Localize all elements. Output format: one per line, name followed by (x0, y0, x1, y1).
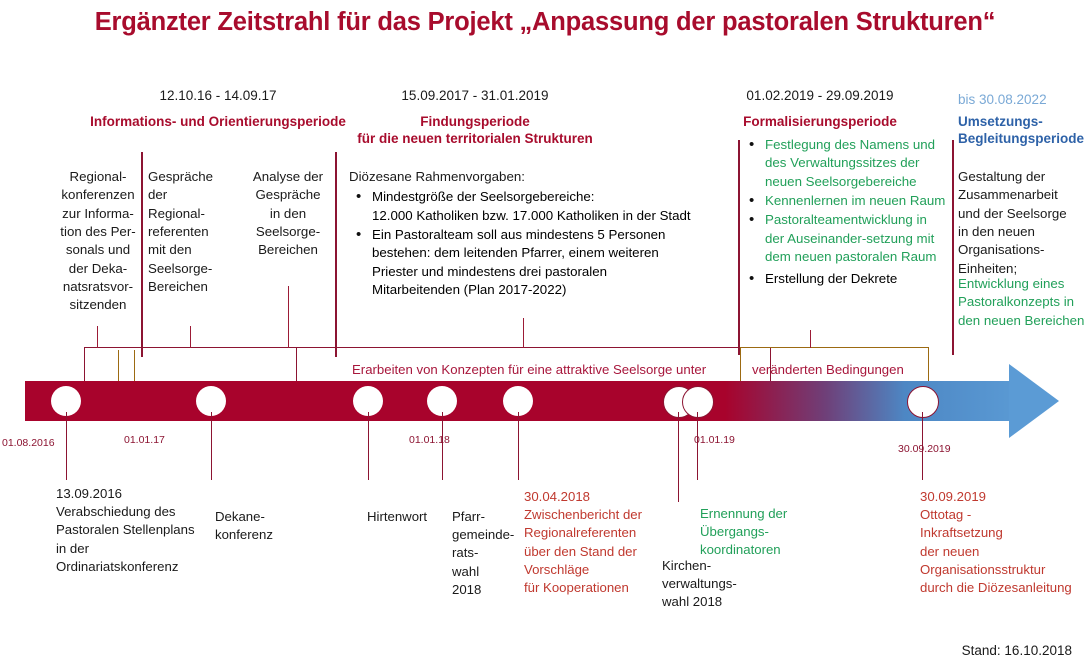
event-block-8: 30.09.2019 Ottotag - Inkraftsetzung der … (920, 488, 1090, 597)
period-name-2-line2: für die neuen territorialen Strukturen (330, 130, 620, 148)
event-line-4 (442, 412, 443, 480)
period-divider-1 (141, 152, 143, 357)
event-text: Ottotag - Inkraftsetzung der neuen Organ… (920, 506, 1090, 597)
tick-date-3: 01.01.18 (409, 434, 450, 446)
column-formalisierung: Festlegung des Namens und des Verwaltung… (742, 136, 947, 290)
column-gespraeche-regionalreferenten: Gespräche der Regional- referenten mit d… (148, 168, 238, 296)
bracket-left-leg (84, 347, 85, 381)
period-divider-2 (335, 152, 337, 357)
event-line-2 (211, 412, 212, 480)
event-block-5: 30.04.2018 Zwischenbericht der Regionalr… (524, 488, 684, 597)
formalisierung-bullets: Festlegung des Namens und des Verwaltung… (742, 136, 947, 289)
column-umsetzung-black: Gestaltung der Zusammenarbeit und der Se… (958, 168, 1088, 278)
column-umsetzung-green: Entwicklung eines Pastoralkonzepts in de… (958, 275, 1090, 330)
period-range-1: 12.10.16 - 14.09.17 (73, 88, 363, 105)
bracket-mid-leg-1 (296, 347, 297, 381)
bracket-tan-right-leg (928, 347, 929, 381)
column-analyse-gespraeche: Analyse der Gespräche in den Seelsorge- … (243, 168, 333, 260)
drop-line-4 (523, 318, 524, 348)
stand-date: Stand: 16.10.2018 (962, 643, 1072, 658)
event-block-6: Ernennung der Übergangs- koordinatoren (700, 505, 840, 560)
event-date: 30.09.2019 (920, 488, 1090, 506)
event-text: Pfarr- gemeinde- rats- wahl 2018 (452, 508, 524, 599)
period-name-2: Findungsperiode (330, 113, 620, 131)
event-text: Verabschiedung des Pastoralen Stellenpla… (56, 503, 216, 576)
tick-date-4: 01.01.19 (694, 434, 735, 446)
tick-thin-2 (134, 350, 135, 381)
period-range-4: bis 30.08.2022 (958, 92, 1083, 109)
bracket-tan-top-line (770, 347, 928, 348)
rahmenvorgaben-intro: Diözesane Rahmenvorgaben: (349, 168, 731, 186)
column-rahmenvorgaben: Diözesane Rahmenvorgaben: Mindestgröße d… (349, 168, 731, 300)
drop-line-3 (288, 286, 289, 348)
event-block-7: Kirchen- verwaltungs- wahl 2018 (662, 557, 782, 612)
timeline-slide: { "title": "Ergänzter Zeitstrahl für das… (0, 0, 1090, 668)
page-title: Ergänzter Zeitstrahl für das Projekt „An… (0, 8, 1090, 37)
event-text: Ernennung der Übergangs- koordinatoren (700, 505, 840, 560)
event-text: Zwischenbericht der Regionalreferenten ü… (524, 506, 684, 597)
column-regionalkonferenzen: Regional- konferenzen zur Informa- tion … (55, 168, 141, 315)
period-range-2: 15.09.2017 - 31.01.2019 (330, 88, 620, 105)
drop-line-2 (190, 326, 191, 348)
event-date: 30.04.2018 (524, 488, 684, 506)
list-item: Erstellung der Dekrete (742, 270, 947, 288)
event-line-5 (518, 412, 519, 480)
timeline-arrowhead (1009, 364, 1059, 438)
bar-caption-left: Erarbeiten von Konzepten für eine attrak… (352, 362, 706, 377)
bracket-tan-left-leg (740, 347, 741, 381)
bracket-top-line (84, 347, 770, 348)
period-name-3: Formalisierungsperiode (700, 113, 940, 131)
period-divider-3 (738, 140, 740, 355)
event-date: 13.09.2016 (56, 485, 216, 503)
tick-thin-1 (118, 350, 119, 381)
event-block-1: 13.09.2016 Verabschiedung des Pastoralen… (56, 485, 216, 576)
tick-date-5: 30.09.2019 (898, 443, 951, 455)
event-line-3 (368, 412, 369, 480)
period-name-4-line2: Begleitungsperiode (958, 130, 1090, 148)
tick-date-1: 01.08.2016 (2, 437, 55, 449)
list-item: Kennenlernen im neuen Raum (742, 192, 947, 210)
event-text: Dekane- konferenz (215, 508, 310, 544)
bar-caption-right: veränderten Bedingungen (752, 362, 904, 377)
event-text: Kirchen- verwaltungs- wahl 2018 (662, 557, 782, 612)
list-item: Ein Pastoralteam soll aus mindestens 5 P… (349, 226, 731, 299)
period-name-4: Umsetzungs- (958, 113, 1088, 131)
tick-date-2: 01.01.17 (124, 434, 165, 446)
event-text: Hirtenwort (367, 508, 457, 526)
event-line-1 (66, 412, 67, 480)
drop-line-1 (97, 326, 98, 348)
bracket-tan-stub (740, 347, 772, 348)
event-block-3: Hirtenwort (367, 508, 457, 526)
event-line-8 (922, 412, 923, 480)
list-item: Festlegung des Namens und des Verwaltung… (742, 136, 947, 191)
period-divider-4 (952, 140, 954, 355)
rahmenvorgaben-bullets: Mindestgröße der Seelsorgebereiche: 12.0… (349, 188, 731, 299)
period-range-3: 01.02.2019 - 29.09.2019 (700, 88, 940, 105)
drop-line-5 (810, 330, 811, 348)
list-item: Mindestgröße der Seelsorgebereiche: 12.0… (349, 188, 731, 225)
event-block-2: Dekane- konferenz (215, 508, 310, 544)
event-line-7 (697, 412, 698, 480)
event-block-4: Pfarr- gemeinde- rats- wahl 2018 (452, 508, 524, 599)
list-item: Pastoralteamentwicklung in der Auseinand… (742, 211, 947, 266)
